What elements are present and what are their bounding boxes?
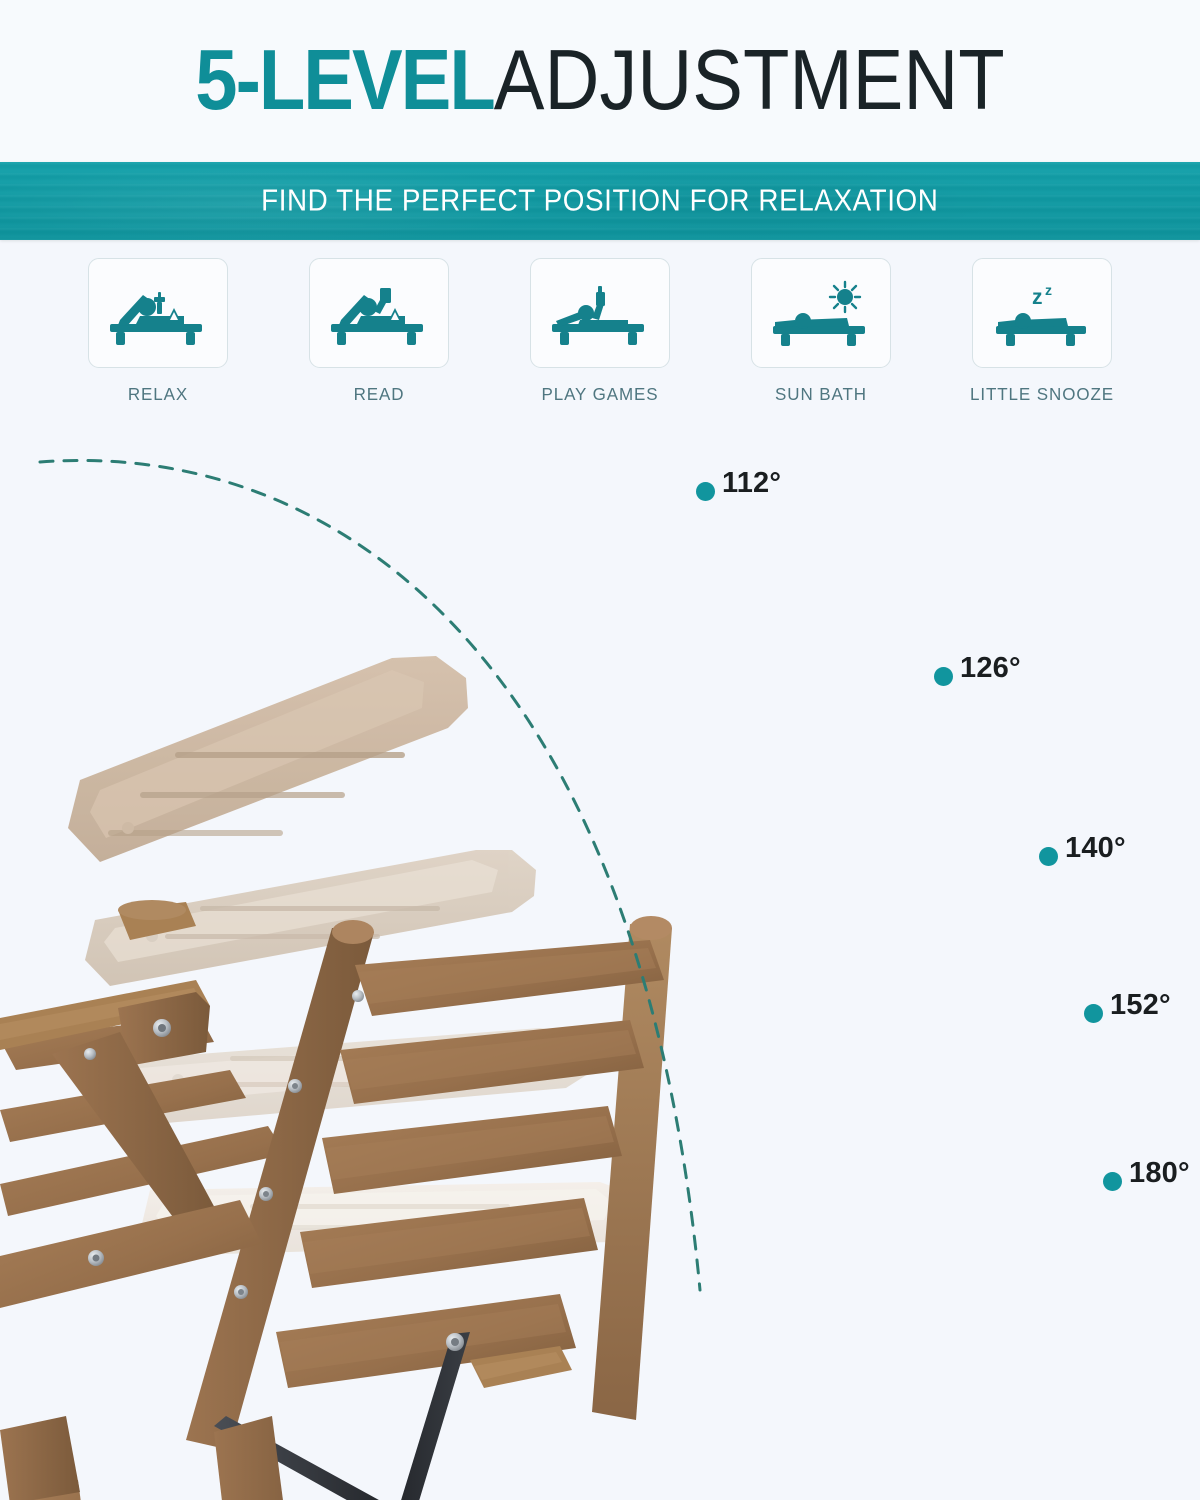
person-playing-phone-icon [548, 280, 652, 346]
title-text: 5-LEVELADJUSTMENT [195, 38, 1004, 123]
subtitle-text: FIND THE PERFECT POSITION FOR RELAXATION [261, 184, 938, 219]
feature-icon-box: z z [972, 258, 1112, 368]
feature-label: RELAX [128, 385, 188, 406]
feature-label: SUN BATH [775, 385, 867, 406]
angle-label-152: 152° [1110, 989, 1171, 1022]
svg-text:z: z [1032, 286, 1043, 309]
feature-row: RELAX READ [0, 258, 1200, 413]
angle-dot-180 [1103, 1172, 1122, 1191]
feature-label: PLAY GAMES [541, 385, 658, 406]
subtitle-banner: FIND THE PERFECT POSITION FOR RELAXATION [0, 162, 1200, 240]
person-sleeping-zzz-icon: z z [990, 280, 1094, 346]
svg-text:z: z [1045, 282, 1052, 298]
angle-label-112: 112° [722, 467, 781, 500]
chair-diagram-svg [0, 420, 1200, 1500]
feature-icon-box [309, 258, 449, 368]
title-highlight: 5-LEVEL [195, 33, 494, 128]
title-rest: ADJUSTMENT [494, 33, 1005, 128]
feature-read[interactable]: READ [282, 258, 477, 405]
feature-sun-bath[interactable]: SUN BATH [724, 258, 919, 405]
angle-dot-152 [1084, 1004, 1103, 1023]
feature-icon-box [530, 258, 670, 368]
angle-dot-112 [696, 482, 715, 501]
feature-relax[interactable]: RELAX [61, 258, 256, 405]
feature-play-games[interactable]: PLAY GAMES [503, 258, 698, 405]
person-reclining-relax-icon [106, 280, 210, 346]
person-reading-book-icon [327, 280, 431, 346]
feature-label: LITTLE SNOOZE [970, 385, 1114, 406]
ghost-position-126 [68, 656, 468, 862]
angle-label-126: 126° [960, 652, 1021, 685]
angle-dot-126 [934, 667, 953, 686]
page-title: 5-LEVELADJUSTMENT [0, 0, 1200, 162]
angle-label-140: 140° [1065, 832, 1126, 865]
feature-little-snooze[interactable]: z z LITTLE SNOOZE [945, 258, 1140, 405]
chair-illustration: 112° 126° 140° 152° 180° [0, 420, 1200, 1500]
feature-icon-box [88, 258, 228, 368]
feature-icon-box [751, 258, 891, 368]
angle-dot-140 [1039, 847, 1058, 866]
angle-label-180: 180° [1129, 1157, 1190, 1190]
person-sunbathing-sun-icon [769, 280, 873, 346]
feature-label: READ [354, 385, 405, 406]
